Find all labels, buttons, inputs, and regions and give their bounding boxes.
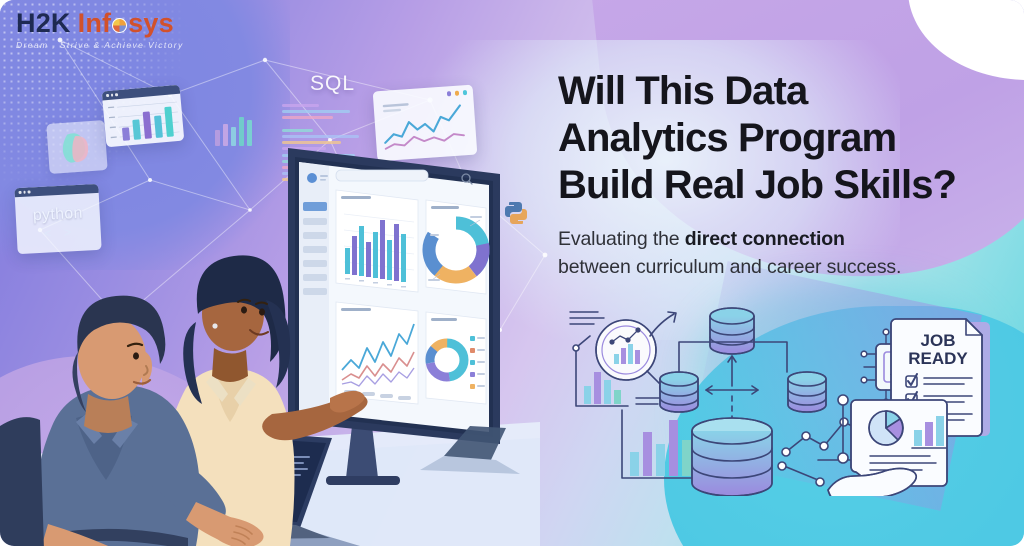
document-lines-icon [570, 312, 604, 324]
bar-chart-icon [622, 410, 700, 478]
job-ready-line2: READY [908, 349, 968, 368]
globe-o-icon [112, 18, 127, 33]
job-ready-line1: JOB [921, 331, 956, 350]
workspace-scene [0, 126, 540, 546]
donut-chart-panel [418, 200, 494, 294]
brand-name-infosys: Infsys [78, 8, 174, 38]
headline-line-3: Build Real Job Skills? [558, 163, 956, 207]
subhead-pre: Evaluating the [558, 228, 685, 250]
database-icon-large [692, 418, 772, 496]
headline-line-2: Analytics Program [558, 116, 896, 160]
promotional-banner: H2KInfsys Dream , Strive & Achieve Victo… [0, 0, 1024, 546]
headline-line-1: Will This Data [558, 69, 807, 113]
subhead-post: between curriculum and career success. [558, 256, 901, 278]
page-title: Will This Data Analytics Program Build R… [558, 68, 1008, 208]
brand-name-h2k: H2K [16, 8, 71, 38]
line-chart-panel [336, 302, 418, 404]
brand-logo[interactable]: H2KInfsys Dream , Strive & Achieve Victo… [16, 10, 206, 50]
pie-chart-icon [869, 411, 903, 445]
brand-tagline: Dream , Strive & Achieve Victory [16, 40, 206, 50]
bar-chart-panel [336, 190, 418, 292]
sql-label: SQL [310, 72, 355, 96]
page-subtitle: Evaluating the direct connection between… [558, 226, 1008, 281]
donut-legend-panel [423, 312, 486, 404]
brand-logo-wordmark: H2KInfsys [16, 10, 206, 37]
analytics-icon-cluster: AI JOB READY [560, 300, 1010, 496]
database-network-icon [660, 308, 826, 422]
timeline-dots-icon [838, 395, 848, 463]
subhead-emphasis: direct connection [685, 228, 845, 250]
copy-block: Will This Data Analytics Program Build R… [558, 68, 1008, 282]
